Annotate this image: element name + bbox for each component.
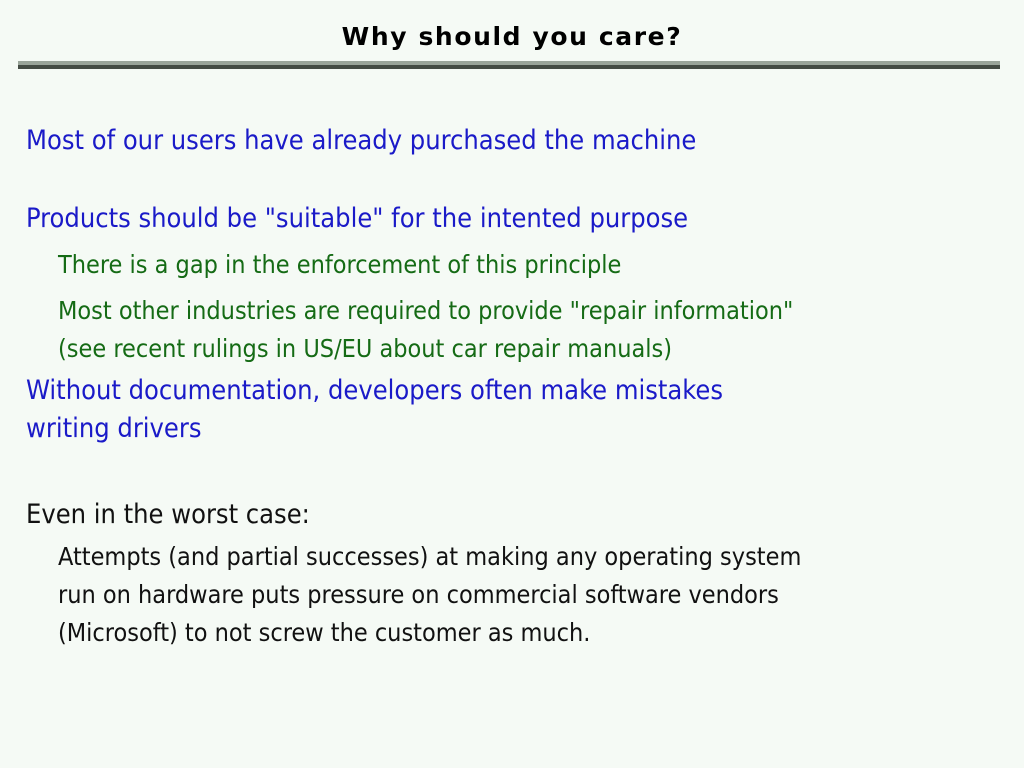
bullet-item: Products should be "suitable" for the in… bbox=[26, 200, 1024, 238]
page-title: Why should you care? bbox=[342, 22, 683, 52]
bullet-item: Most other industries are required to pr… bbox=[58, 292, 1024, 368]
bullet-item: Most of our users have already purchased… bbox=[26, 122, 1024, 160]
divider-dark-band bbox=[18, 65, 1000, 69]
slide: Why should you care? Most of our users h… bbox=[0, 0, 1024, 768]
slide-title-area: Why should you care? bbox=[0, 22, 1024, 52]
bullet-item: Without documentation, developers often … bbox=[26, 372, 1024, 448]
bullet-item: There is a gap in the enforcement of thi… bbox=[58, 246, 1024, 284]
slide-body: Most of our users have already purchased… bbox=[0, 104, 1024, 652]
title-divider bbox=[18, 61, 1000, 69]
bullet-item: Attempts (and partial successes) at maki… bbox=[58, 538, 1024, 652]
bullet-item: Even in the worst case: bbox=[26, 496, 1024, 534]
